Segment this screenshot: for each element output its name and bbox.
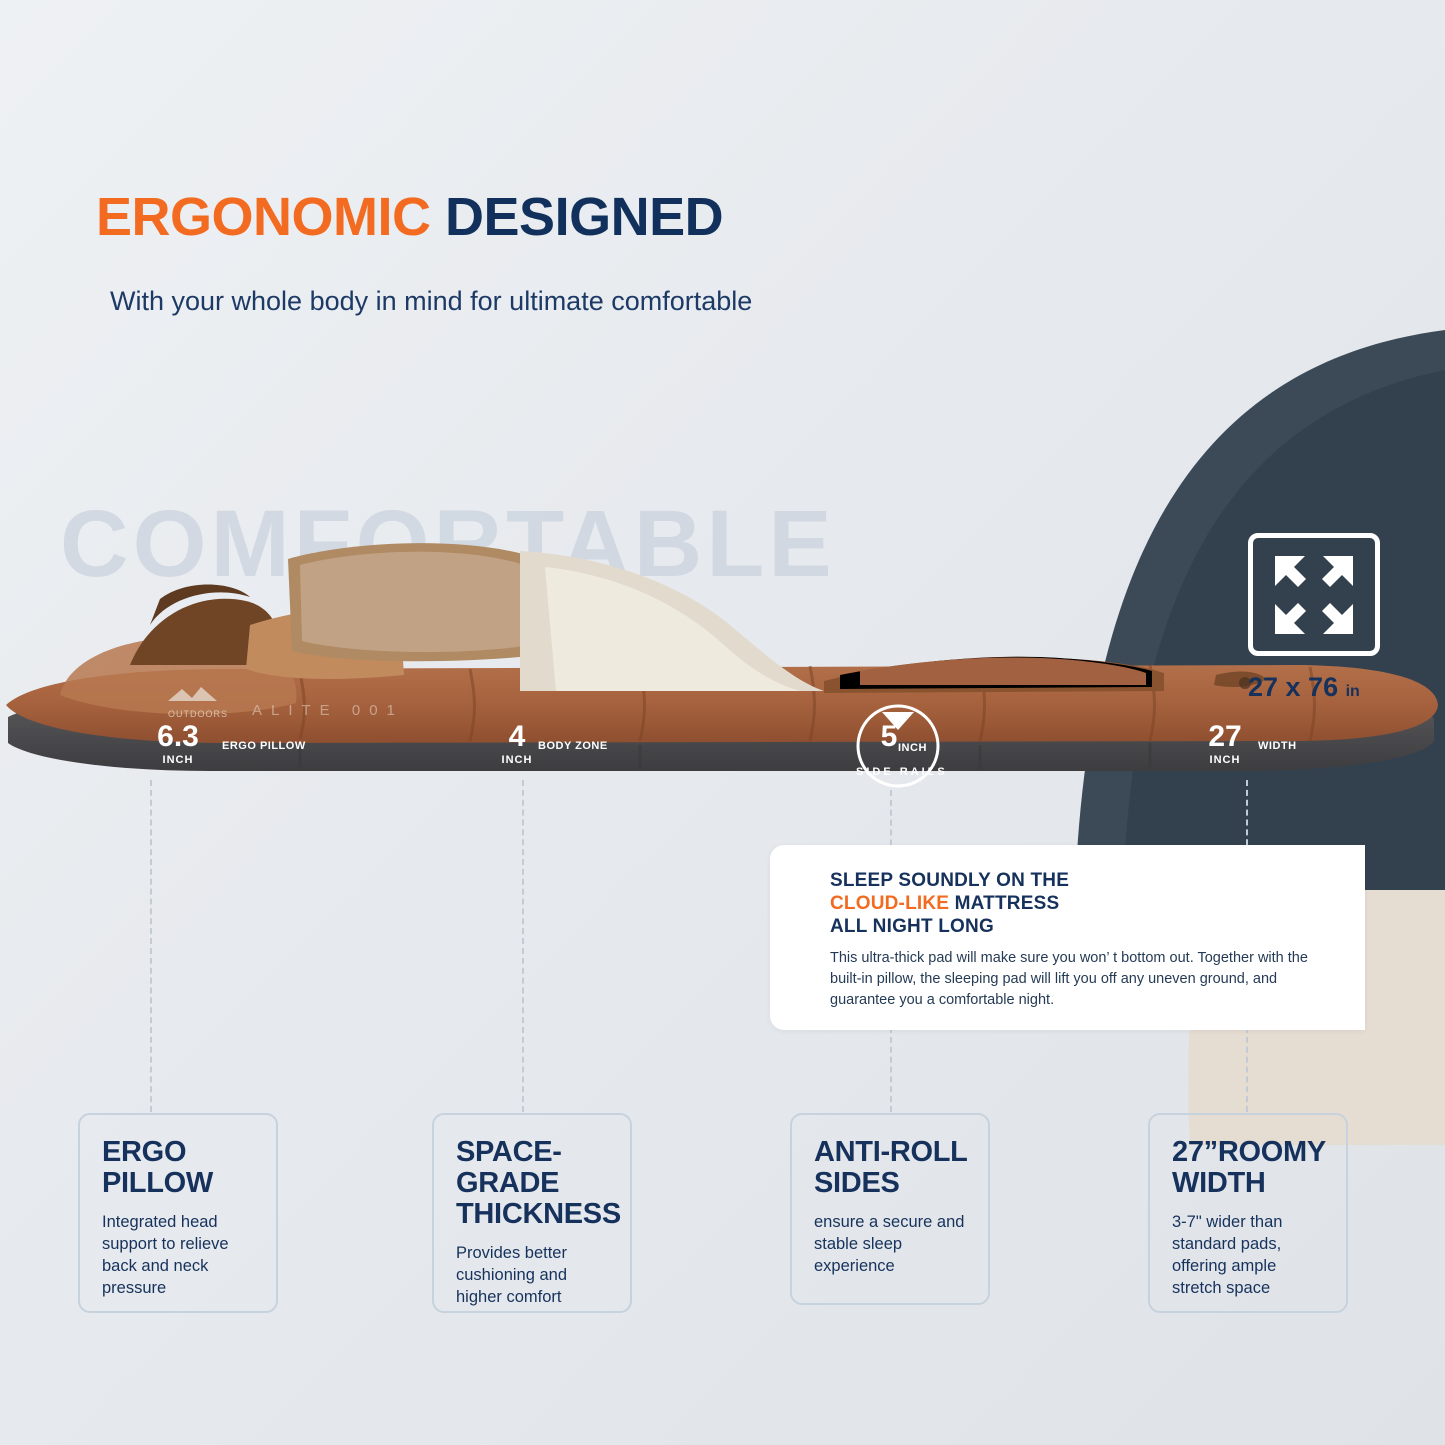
svg-text:ALITE 001: ALITE 001 [252,702,404,719]
size-value: 27 x 76 [1248,672,1338,702]
measurement-body-zone-caption: BODY ZONE [538,740,608,752]
feature-card-roomy-width: 27”ROOMY WIDTH 3-7" wider than standard … [1148,1113,1348,1313]
size-unit: in [1346,683,1360,700]
headline-word-ergonomic: ERGONOMIC [96,187,431,247]
leader-line-1 [150,780,152,1112]
feature-card-body: Integrated head support to relieve back … [102,1211,256,1299]
measurement-side-rails-caption: SIDE RAILS [856,766,948,778]
info-panel: SLEEP SOUNDLY ON THE CLOUD-LIKE MATTRESS… [770,845,1365,1030]
measurement-value: 6.3 [143,722,213,752]
headline-word-designed: DESIGNED [445,187,723,247]
page-subtitle: With your whole body in mind for ultimat… [110,286,752,317]
feature-card-title: ERGO PILLOW [102,1137,256,1199]
info-panel-title-line1: SLEEP SOUNDLY ON THE [830,870,1069,891]
measurement-unit: INCH [492,754,542,766]
measurement-ergo-pillow: 6.3 INCH [143,722,213,766]
measurement-side-rails-unit: INCH [898,742,927,754]
measurement-ergo-pillow-caption: ERGO PILLOW [222,740,306,752]
feature-card-ergo-pillow: ERGO PILLOW Integrated head support to r… [78,1113,278,1313]
measurement-value: 27 [1196,722,1254,752]
feature-card-title: ANTI-ROLL SIDES [814,1137,968,1199]
feature-card-space-grade-thickness: SPACE-GRADE THICKNESS Provides better cu… [432,1113,632,1313]
info-panel-title-line3: ALL NIGHT LONG [830,916,994,937]
info-panel-body: This ultra-thick pad will make sure you … [830,948,1337,1011]
feature-card-title: 27”ROOMY WIDTH [1172,1137,1326,1199]
measurement-unit: INCH [143,754,213,766]
info-panel-title-highlight: CLOUD-LIKE [830,893,949,914]
feature-card-title: SPACE-GRADE THICKNESS [456,1137,610,1230]
measurement-value: 4 [492,722,542,752]
svg-text:OUTDOORS: OUTDOORS [168,709,228,719]
feature-card-body: ensure a secure and stable sleep experie… [814,1211,968,1277]
expand-arrows-icon [1248,533,1380,656]
feature-card-body: 3-7" wider than standard pads, offering … [1172,1211,1326,1299]
measurement-body-zone: 4 INCH [492,722,542,766]
info-panel-title-line2-rest: MATTRESS [949,893,1059,914]
size-label: 27 x 76 in [1248,672,1360,703]
measurement-unit: INCH [1196,754,1254,766]
feature-card-anti-roll-sides: ANTI-ROLL SIDES ensure a secure and stab… [790,1113,990,1305]
leader-line-2 [522,780,524,1112]
measurement-width: 27 INCH [1196,722,1254,766]
info-panel-title: SLEEP SOUNDLY ON THE CLOUD-LIKE MATTRESS… [830,869,1337,938]
poster-stage: ERGONOMIC DESIGNED With your whole body … [0,0,1445,1445]
feature-card-body: Provides better cushioning and higher co… [456,1242,610,1308]
measurement-width-caption: WIDTH [1258,740,1297,752]
page-title: ERGONOMIC DESIGNED [96,186,723,248]
